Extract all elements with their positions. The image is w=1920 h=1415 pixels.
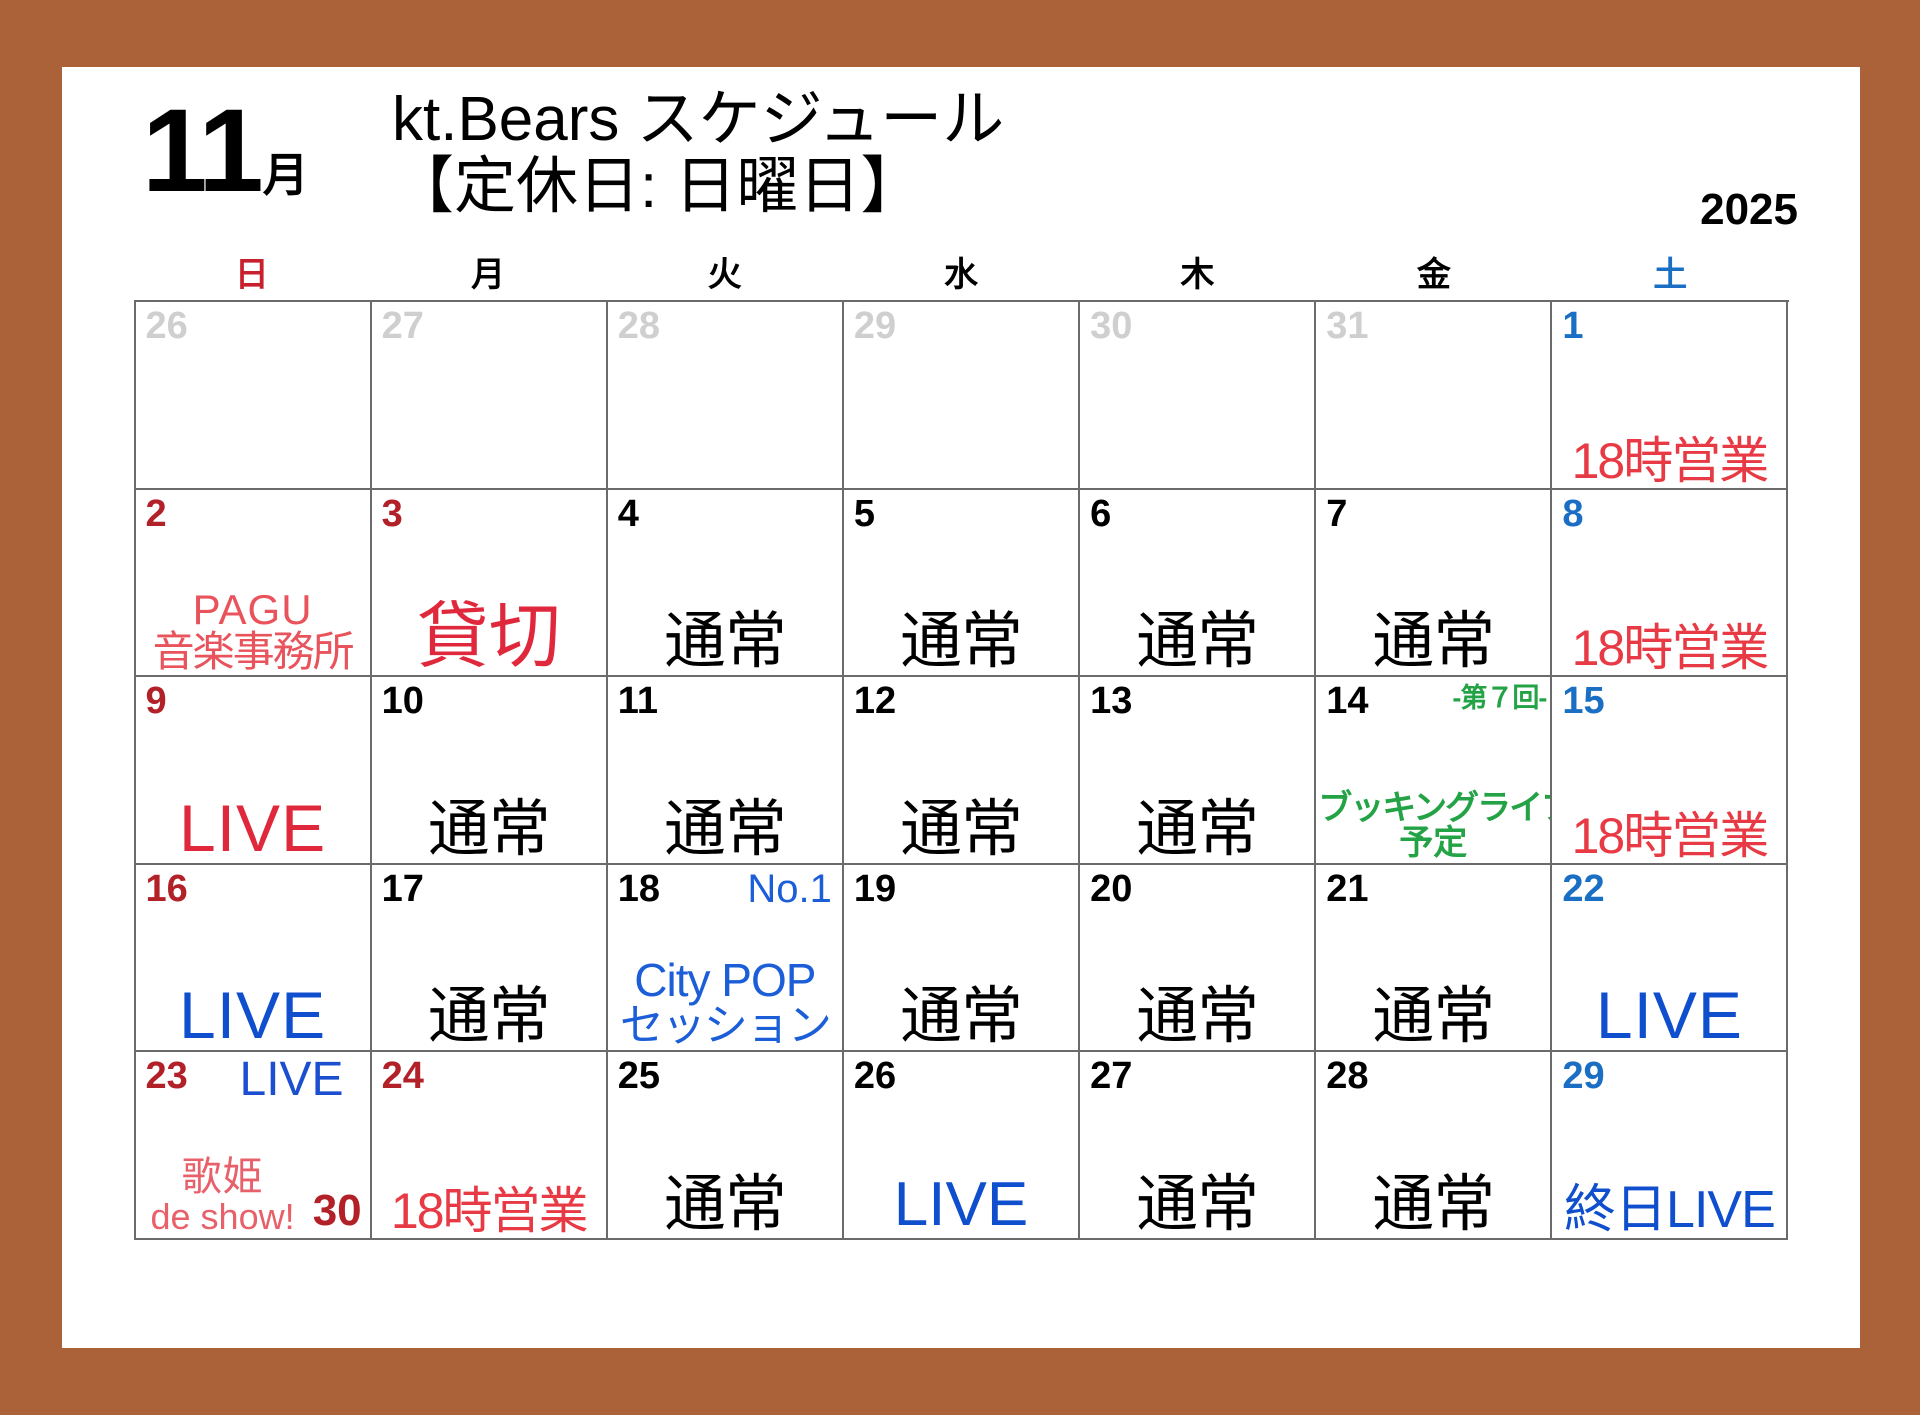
- day-number: 11: [618, 681, 658, 723]
- event-label-line2: ブッキングライブ: [1318, 791, 1548, 826]
- day-number: 27: [1090, 1056, 1132, 1098]
- event-label: 通常: [846, 611, 1076, 673]
- day-number: 12: [854, 681, 896, 723]
- day-number: 29: [1562, 1056, 1604, 1098]
- day-event: 通常: [608, 799, 842, 861]
- day-number: 31: [1326, 306, 1368, 348]
- day-number: 28: [618, 306, 660, 348]
- day-number: 28: [1326, 1056, 1368, 1098]
- day-event: 18時営業: [1552, 436, 1786, 486]
- day-event: 通常: [1080, 986, 1314, 1048]
- event-label-line1: -第７回-: [1452, 685, 1546, 713]
- day-cell-nov1[interactable]: 1 18時営業: [1552, 302, 1788, 490]
- day-number: 18: [618, 869, 660, 911]
- day-cell-oct30[interactable]: 30: [1080, 302, 1316, 490]
- event-label: LIVE: [138, 795, 368, 861]
- event-label-line2: セッション: [610, 1004, 840, 1049]
- day-cell-nov9[interactable]: 9 LIVE: [136, 677, 372, 865]
- day-number: 17: [382, 869, 424, 911]
- day-event: 通常: [372, 986, 606, 1048]
- day-number: 20: [1090, 869, 1132, 911]
- day-cell-nov3[interactable]: 3 貸切: [372, 490, 608, 678]
- day-cell-nov4[interactable]: 4 通常: [608, 490, 844, 678]
- day-cell-oct26[interactable]: 26: [136, 302, 372, 490]
- year-label: 2025: [1700, 185, 1798, 235]
- event-label: 貸切: [374, 601, 604, 673]
- day-cell-nov19[interactable]: 19 通常: [844, 865, 1080, 1053]
- day-event: 通常: [1080, 611, 1314, 673]
- day-event: 通常: [1316, 1174, 1550, 1236]
- day-event: PAGU 音楽事務所: [136, 589, 370, 673]
- calendar-header: 11 月 kt.Bears スケジュール 【定休日: 日曜日】 2025: [62, 67, 1860, 247]
- day-event: 通常: [844, 799, 1078, 861]
- day-number: 6: [1090, 494, 1111, 536]
- day-event: 通常: [1080, 1174, 1314, 1236]
- event-label-line1: 歌姫: [138, 1156, 308, 1198]
- day-cell-nov24[interactable]: 24 18時営業: [372, 1052, 608, 1240]
- day-number: 13: [1090, 681, 1132, 723]
- day-cell-nov22[interactable]: 22 LIVE: [1552, 865, 1788, 1053]
- day-cell-nov26[interactable]: 26 LIVE: [844, 1052, 1080, 1240]
- day-number: 16: [146, 869, 188, 911]
- day-number: 30: [1090, 306, 1132, 348]
- day-event: City POP セッション: [608, 957, 842, 1049]
- event-label: 18時営業: [1554, 436, 1784, 486]
- event-label: 18時営業: [1554, 623, 1784, 673]
- day-cell-nov13[interactable]: 13 通常: [1080, 677, 1316, 865]
- day-cell-nov2[interactable]: 2 PAGU 音楽事務所: [136, 490, 372, 678]
- day-cell-nov8[interactable]: 8 18時営業: [1552, 490, 1788, 678]
- event-label: 通常: [1318, 611, 1548, 673]
- event-label: 通常: [846, 986, 1076, 1048]
- day-event: 貸切: [372, 601, 606, 673]
- day-cell-nov20[interactable]: 20 通常: [1080, 865, 1316, 1053]
- day-event: 通常: [372, 799, 606, 861]
- day-event: 18時営業: [1552, 623, 1786, 673]
- event-label: LIVE: [138, 982, 368, 1048]
- event-label: 通常: [1082, 799, 1312, 861]
- day-number: 14: [1326, 681, 1368, 723]
- event-booking-body: ブッキングライブ 予定: [1318, 791, 1548, 860]
- day-number: 21: [1326, 869, 1368, 911]
- weekday-wednesday: 水: [843, 247, 1079, 296]
- event-label: 通常: [374, 986, 604, 1048]
- day-number: 2: [146, 494, 167, 536]
- event-label-line3: 予定: [1318, 826, 1548, 861]
- day-event: 通常: [1316, 986, 1550, 1048]
- event-label: LIVE: [846, 1174, 1076, 1236]
- event-label: 通常: [1082, 986, 1312, 1048]
- month-block: 11 月: [142, 97, 309, 206]
- day-cell-nov18[interactable]: 18 No.1 City POP セッション: [608, 865, 844, 1053]
- day-cell-nov17[interactable]: 17 通常: [372, 865, 608, 1053]
- event-label-line2: 音楽事務所: [138, 631, 368, 673]
- event-label: 通常: [610, 1174, 840, 1236]
- event-label: 通常: [1318, 1174, 1548, 1236]
- day-cell-nov27[interactable]: 27 通常: [1080, 1052, 1316, 1240]
- event-label: 終日LIVE: [1554, 1184, 1784, 1236]
- event-label-line1: PAGU: [138, 589, 368, 631]
- day-number: 27: [382, 306, 424, 348]
- weekday-friday: 金: [1316, 247, 1552, 296]
- event-citypop-body: City POP セッション: [610, 957, 840, 1049]
- day-cell-nov14[interactable]: 14 -第７回- ブッキングライブ 予定: [1316, 677, 1552, 865]
- day-event: 通常: [1080, 799, 1314, 861]
- day-event: 通常: [1316, 611, 1550, 673]
- day-event: ブッキングライブ 予定: [1316, 791, 1550, 860]
- weekday-header-row: 日 月 火 水 木 金 土: [134, 247, 1789, 300]
- month-number: 11: [142, 97, 261, 206]
- day-event: 通常: [608, 611, 842, 673]
- event-label-inline: LIVE: [240, 1052, 344, 1107]
- day-event: 18時営業: [372, 1186, 606, 1236]
- day-event: LIVE: [844, 1174, 1078, 1236]
- day-number-overflow: 30: [313, 1186, 362, 1236]
- day-cell-nov7[interactable]: 7 通常: [1316, 490, 1552, 678]
- day-cell-nov10[interactable]: 10 通常: [372, 677, 608, 865]
- day-event: LIVE: [1552, 982, 1786, 1048]
- day-cell-oct28[interactable]: 28: [608, 302, 844, 490]
- month-suffix-label: 月: [261, 152, 309, 206]
- weekday-tuesday: 火: [606, 247, 842, 296]
- day-cell-nov29[interactable]: 29 終日LIVE: [1552, 1052, 1788, 1240]
- event-label: 通常: [610, 611, 840, 673]
- page-title: kt.Bears スケジュール: [392, 87, 1004, 154]
- day-number: 8: [1562, 494, 1583, 536]
- day-event: LIVE: [136, 982, 370, 1048]
- title-block: kt.Bears スケジュール 【定休日: 日曜日】: [392, 87, 1004, 221]
- day-number: 25: [618, 1056, 660, 1098]
- weekday-saturday: 土: [1552, 247, 1788, 296]
- day-number: 15: [1562, 681, 1604, 723]
- day-number: 4: [618, 494, 639, 536]
- day-number: 26: [146, 306, 188, 348]
- day-event: LIVE: [136, 795, 370, 861]
- regular-holiday-note: 【定休日: 日曜日】: [392, 154, 1004, 221]
- day-cell-nov16[interactable]: 16 LIVE: [136, 865, 372, 1053]
- weekday-sunday: 日: [134, 247, 370, 296]
- day-number: 19: [854, 869, 896, 911]
- event-label: 通常: [1318, 986, 1548, 1048]
- event-pagu: PAGU 音楽事務所: [138, 589, 368, 673]
- event-label-line2: de show!: [138, 1198, 308, 1236]
- event-label-line0: No.1: [747, 869, 832, 910]
- calendar-page: 11 月 kt.Bears スケジュール 【定休日: 日曜日】 2025 日 月…: [62, 67, 1860, 1348]
- day-cell-nov25[interactable]: 25 通常: [608, 1052, 844, 1240]
- day-cell-nov11[interactable]: 11 通常: [608, 677, 844, 865]
- day-number: 22: [1562, 869, 1604, 911]
- day-number: 5: [854, 494, 875, 536]
- calendar-grid: 26 27 28 29 30 31 1 18時営業 2 PAGU: [134, 300, 1789, 1240]
- weekday-thursday: 木: [1079, 247, 1315, 296]
- day-number: 10: [382, 681, 424, 723]
- event-label: 通常: [1082, 611, 1312, 673]
- day-number: 3: [382, 494, 403, 536]
- day-cell-nov5[interactable]: 5 通常: [844, 490, 1080, 678]
- day-number: 7: [1326, 494, 1347, 536]
- event-label: 通常: [846, 799, 1076, 861]
- day-number: 24: [382, 1056, 424, 1098]
- day-cell-oct27[interactable]: 27: [372, 302, 608, 490]
- day-event: 通常: [844, 986, 1078, 1048]
- event-label-line1: City POP: [610, 957, 840, 1004]
- event-label: 通常: [610, 799, 840, 861]
- day-event: 18時営業: [1552, 811, 1786, 861]
- day-number: 26: [854, 1056, 896, 1098]
- day-number: 9: [146, 681, 167, 723]
- day-number: 29: [854, 306, 896, 348]
- event-label: 通常: [1082, 1174, 1312, 1236]
- day-cell-nov23[interactable]: 23 LIVE 歌姫 de show! 30: [136, 1052, 372, 1240]
- day-event: 通常: [844, 611, 1078, 673]
- day-cell-nov12[interactable]: 12 通常: [844, 677, 1080, 865]
- day-cell-nov21[interactable]: 21 通常: [1316, 865, 1552, 1053]
- day-number: 23: [146, 1056, 188, 1098]
- day-event: 通常: [608, 1174, 842, 1236]
- day-cell-nov15[interactable]: 15 18時営業: [1552, 677, 1788, 865]
- weekday-monday: 月: [370, 247, 606, 296]
- day-cell-oct31[interactable]: 31: [1316, 302, 1552, 490]
- day-cell-nov28[interactable]: 28 通常: [1316, 1052, 1552, 1240]
- event-label: 18時営業: [1554, 811, 1784, 861]
- event-label: 通常: [374, 799, 604, 861]
- day-event: 終日LIVE: [1552, 1184, 1786, 1236]
- event-label: LIVE: [1554, 982, 1784, 1048]
- day-cell-nov6[interactable]: 6 通常: [1080, 490, 1316, 678]
- event-label: 18時営業: [374, 1186, 604, 1236]
- day-number: 1: [1562, 306, 1583, 348]
- day-cell-oct29[interactable]: 29: [844, 302, 1080, 490]
